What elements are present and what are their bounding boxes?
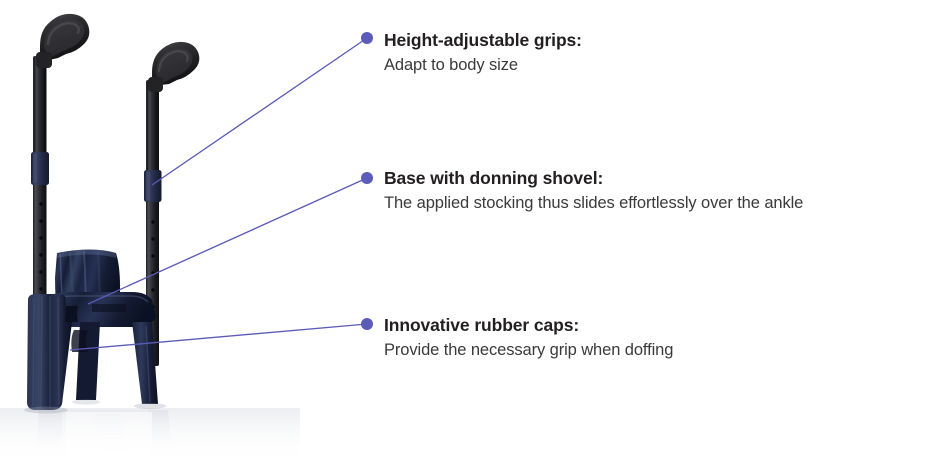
grip-right	[148, 42, 199, 92]
leader-dot-1	[361, 32, 373, 44]
callout-height-adjustable-grips: Height-adjustable grips: Adapt to body s…	[384, 29, 582, 76]
leader-dot-3	[361, 318, 373, 330]
callout-subtitle: Adapt to body size	[384, 54, 582, 76]
leader-dot-2	[361, 172, 373, 184]
callout-subtitle: The applied stocking thus slides effortl…	[384, 192, 803, 214]
callout-title: Base with donning shovel:	[384, 167, 803, 189]
callout-subtitle: Provide the necessary grip when doffing	[384, 339, 673, 361]
grip-left	[36, 14, 89, 68]
product-image	[0, 0, 360, 463]
callout-title: Innovative rubber caps:	[384, 314, 673, 336]
callout-base-with-donning-shovel: Base with donning shovel: The applied st…	[384, 167, 803, 214]
product-feature-diagram: Height-adjustable grips: Adapt to body s…	[0, 0, 946, 463]
callout-title: Height-adjustable grips:	[384, 29, 582, 51]
callout-innovative-rubber-caps: Innovative rubber caps: Provide the nece…	[384, 314, 673, 361]
